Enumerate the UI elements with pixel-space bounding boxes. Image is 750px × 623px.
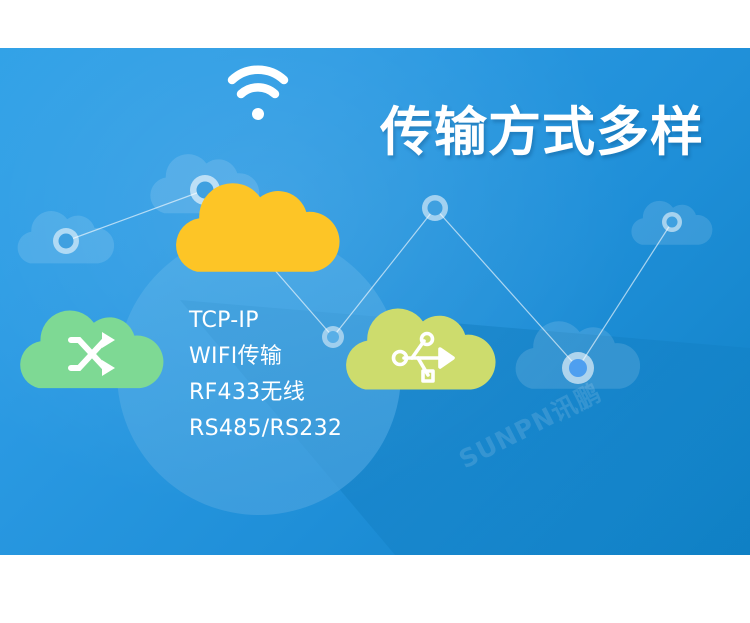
wifi-icon (232, 70, 284, 120)
feature-item-rf433: RF433无线 (189, 375, 419, 411)
feature-list: TCP-IP WIFI传输 RF433无线 RS485/RS232 (189, 303, 419, 447)
shuffle-cloud[interactable] (20, 310, 163, 388)
page-title: 传输方式多样 (380, 106, 704, 159)
bottom-white-band (0, 555, 750, 623)
wifi-cloud-shape (176, 183, 339, 272)
top-white-band (0, 0, 750, 48)
feature-item-rs485-rs232: RS485/RS232 (189, 411, 419, 447)
feature-item-wifi: WIFI传输 (189, 339, 419, 375)
banner-graphic: 传输方式多样 TCP-IP WIFI传输 RF433无线 RS485/RS232… (0, 48, 750, 555)
feature-item-tcp-ip: TCP-IP (189, 303, 419, 339)
wifi-cloud[interactable] (176, 70, 339, 272)
shuffle-cloud-shape (20, 310, 163, 388)
